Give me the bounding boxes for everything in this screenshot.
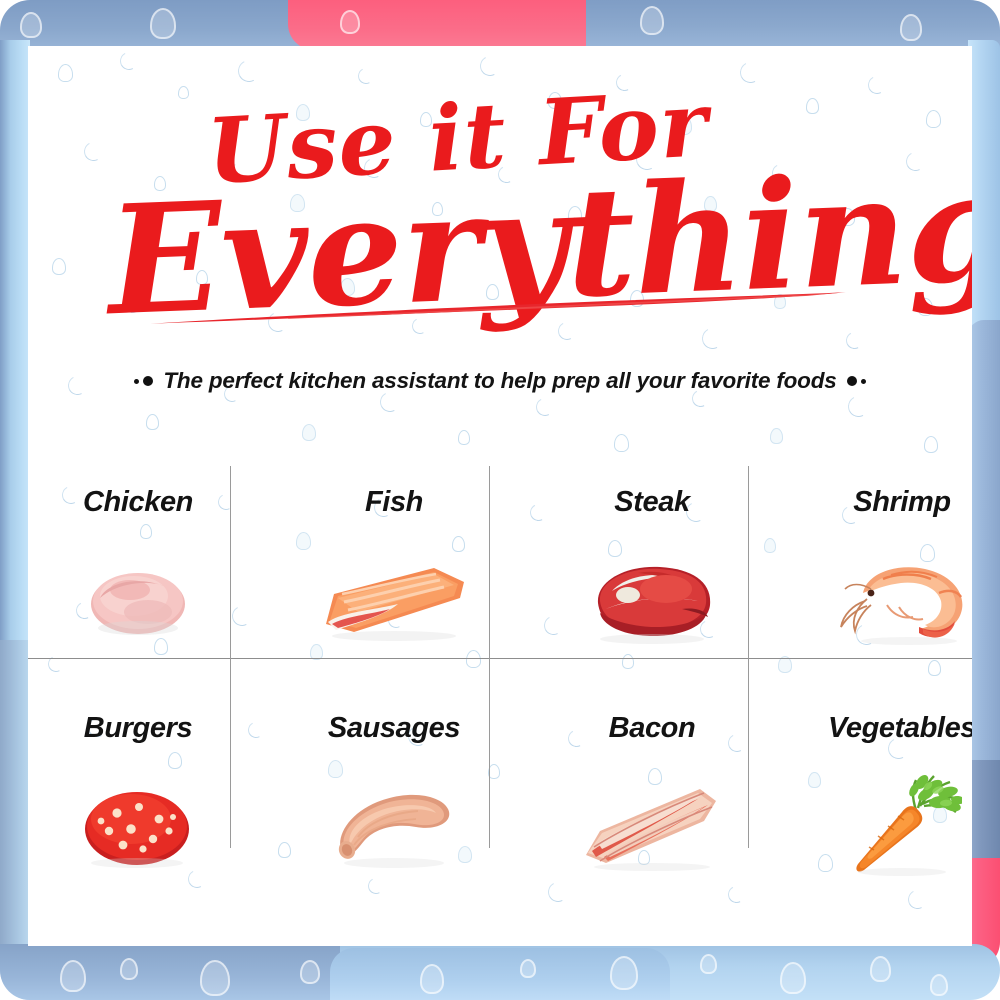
bacon-strips-icon (534, 755, 770, 895)
grid-cell-sausages: Sausages (276, 712, 512, 912)
grid-cell-shrimp: Shrimp (784, 486, 972, 686)
large-dot-icon (847, 376, 857, 386)
frame-band-bottom-left (0, 944, 340, 1000)
grid-cell-label: Vegetables (784, 712, 972, 745)
grid-cell-label: Fish (276, 486, 512, 519)
food-feature-grid: Chicken Fish (28, 450, 972, 850)
grid-cell-bacon: Bacon (534, 712, 770, 912)
grid-cell-vegetables: Vegetables (784, 712, 972, 912)
subtitle-row: The perfect kitchen assistant to help pr… (28, 368, 972, 394)
carrot-icon (784, 755, 972, 895)
frame-band-left-lower (0, 640, 30, 970)
burger-patty-icon (28, 755, 256, 895)
grid-cell-label: Bacon (534, 712, 770, 745)
subtitle-left-dots (134, 376, 153, 386)
grid-cell-steak: Steak (534, 486, 770, 686)
shrimp-icon (784, 529, 972, 669)
water-droplet (700, 954, 717, 974)
water-droplet (610, 956, 638, 990)
water-droplet (120, 958, 138, 980)
steak-icon (534, 529, 770, 669)
water-droplet (200, 960, 230, 996)
water-droplet (150, 8, 176, 39)
small-dot-icon (134, 379, 139, 384)
grid-cell-label: Chicken (28, 486, 256, 519)
water-droplet (520, 959, 536, 978)
small-dot-icon (861, 379, 866, 384)
water-droplet (870, 956, 891, 982)
grid-cell-label: Sausages (276, 712, 512, 745)
grid-cell-label: Burgers (28, 712, 256, 745)
large-dot-icon (143, 376, 153, 386)
grid-cell-fish: Fish (276, 486, 512, 686)
chicken-slice-icon (28, 529, 256, 669)
water-droplet (60, 960, 86, 992)
grid-cell-label: Steak (534, 486, 770, 519)
product-feature-poster: Use it For Everything! The perfect kitch… (0, 0, 1000, 1000)
grid-cell-label: Shrimp (784, 486, 972, 519)
frame-band-top-pink (288, 0, 598, 50)
water-droplet (900, 14, 922, 41)
water-droplet (20, 12, 42, 38)
water-droplet (640, 6, 664, 35)
water-droplet (930, 974, 948, 996)
frame-band-right-middle (968, 320, 1000, 780)
water-droplet (340, 10, 360, 34)
water-droplet (300, 960, 320, 984)
frame-band-right-upper (968, 40, 1000, 340)
water-droplet (780, 962, 806, 994)
subtitle-right-dots (847, 376, 866, 386)
grid-cell-chicken: Chicken (28, 486, 256, 686)
grid-cell-burgers: Burgers (28, 712, 256, 912)
sausage-icon (276, 755, 512, 895)
poster-sheet: Use it For Everything! The perfect kitch… (28, 46, 972, 946)
subtitle-text: The perfect kitchen assistant to help pr… (163, 368, 836, 394)
water-droplet (420, 964, 444, 994)
salmon-fillet-icon (276, 529, 512, 669)
